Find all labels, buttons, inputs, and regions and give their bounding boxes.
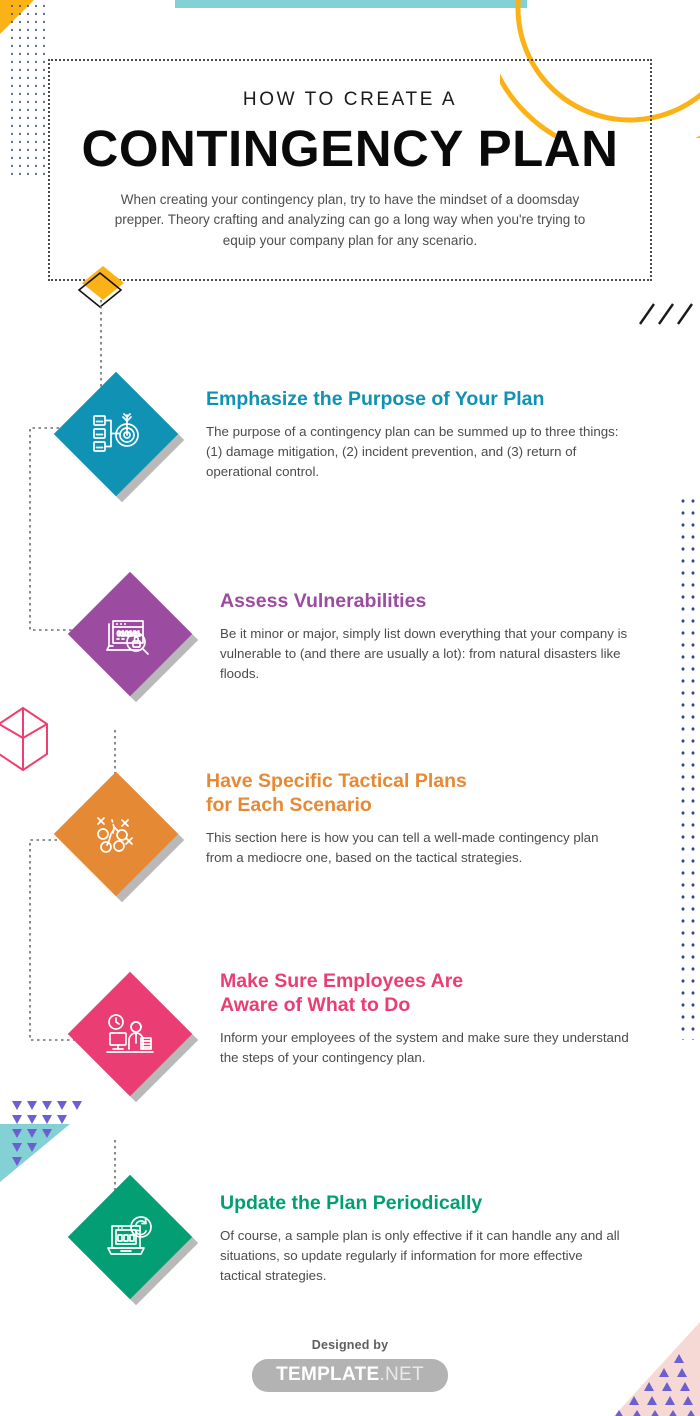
step-title: Assess Vulnerabilities xyxy=(220,590,632,614)
diagonal-slashes-icon xyxy=(638,298,694,332)
brand-badge[interactable]: TEMPLATE.NET xyxy=(252,1359,448,1392)
top-accent-bar xyxy=(175,0,527,8)
bottom-left-teal-triangle xyxy=(0,1124,70,1182)
step-title: Update the Plan Periodically xyxy=(220,1192,624,1216)
top-left-yellow-triangle xyxy=(0,0,34,34)
footer: Designed by TEMPLATE.NET xyxy=(0,1338,700,1392)
step-diamond xyxy=(68,972,192,1096)
playbook-tactics-icon xyxy=(54,772,178,896)
target-strategy-icon xyxy=(54,372,178,496)
infographic-page: HOW TO CREATE A CONTINGENCY PLAN When cr… xyxy=(0,0,700,1416)
step-diamond xyxy=(68,1175,192,1299)
step-body: Be it minor or major, simply list down e… xyxy=(220,624,632,685)
header-panel: HOW TO CREATE A CONTINGENCY PLAN When cr… xyxy=(48,59,652,281)
step-body: Inform your employees of the system and … xyxy=(220,1028,630,1068)
step-text-block: Update the Plan Periodically Of course, … xyxy=(220,1192,624,1286)
pink-cube-outline-icon xyxy=(0,705,49,773)
page-title: CONTINGENCY PLAN xyxy=(82,123,619,174)
step-text-block: Assess Vulnerabilities Be it minor or ma… xyxy=(220,590,632,684)
step-title: Have Specific Tactical Plans for Each Sc… xyxy=(206,770,622,818)
brand-name: TEMPLATE xyxy=(276,1364,379,1385)
step-text-block: Make Sure Employees Are Aware of What to… xyxy=(220,970,630,1068)
brand-tld: .NET xyxy=(379,1364,423,1385)
left-dot-grid xyxy=(8,2,48,180)
laptop-refresh-icon xyxy=(68,1175,192,1299)
right-dot-column xyxy=(678,495,698,1040)
step-title: Make Sure Employees Are Aware of What to… xyxy=(220,970,630,1018)
purple-down-triangles-icon xyxy=(10,1097,88,1169)
step-text-block: Emphasize the Purpose of Your Plan The p… xyxy=(206,388,630,482)
step-body: Of course, a sample plan is only effecti… xyxy=(220,1226,624,1287)
step-diamond xyxy=(54,372,178,496)
employee-training-icon xyxy=(68,972,192,1096)
step-body: The purpose of a contingency plan can be… xyxy=(206,422,630,483)
header-kicker: HOW TO CREATE A xyxy=(243,89,457,111)
step-diamond xyxy=(54,772,178,896)
security-scan-icon: 010101 xyxy=(68,572,192,696)
step-diamond: 010101 xyxy=(68,572,192,696)
step-body: This section here is how you can tell a … xyxy=(206,828,622,868)
step-text-block: Have Specific Tactical Plans for Each Sc… xyxy=(206,770,622,868)
header-intro-text: When creating your contingency plan, try… xyxy=(100,190,600,251)
step-title: Emphasize the Purpose of Your Plan xyxy=(206,388,630,412)
designed-by-label: Designed by xyxy=(0,1338,700,1352)
